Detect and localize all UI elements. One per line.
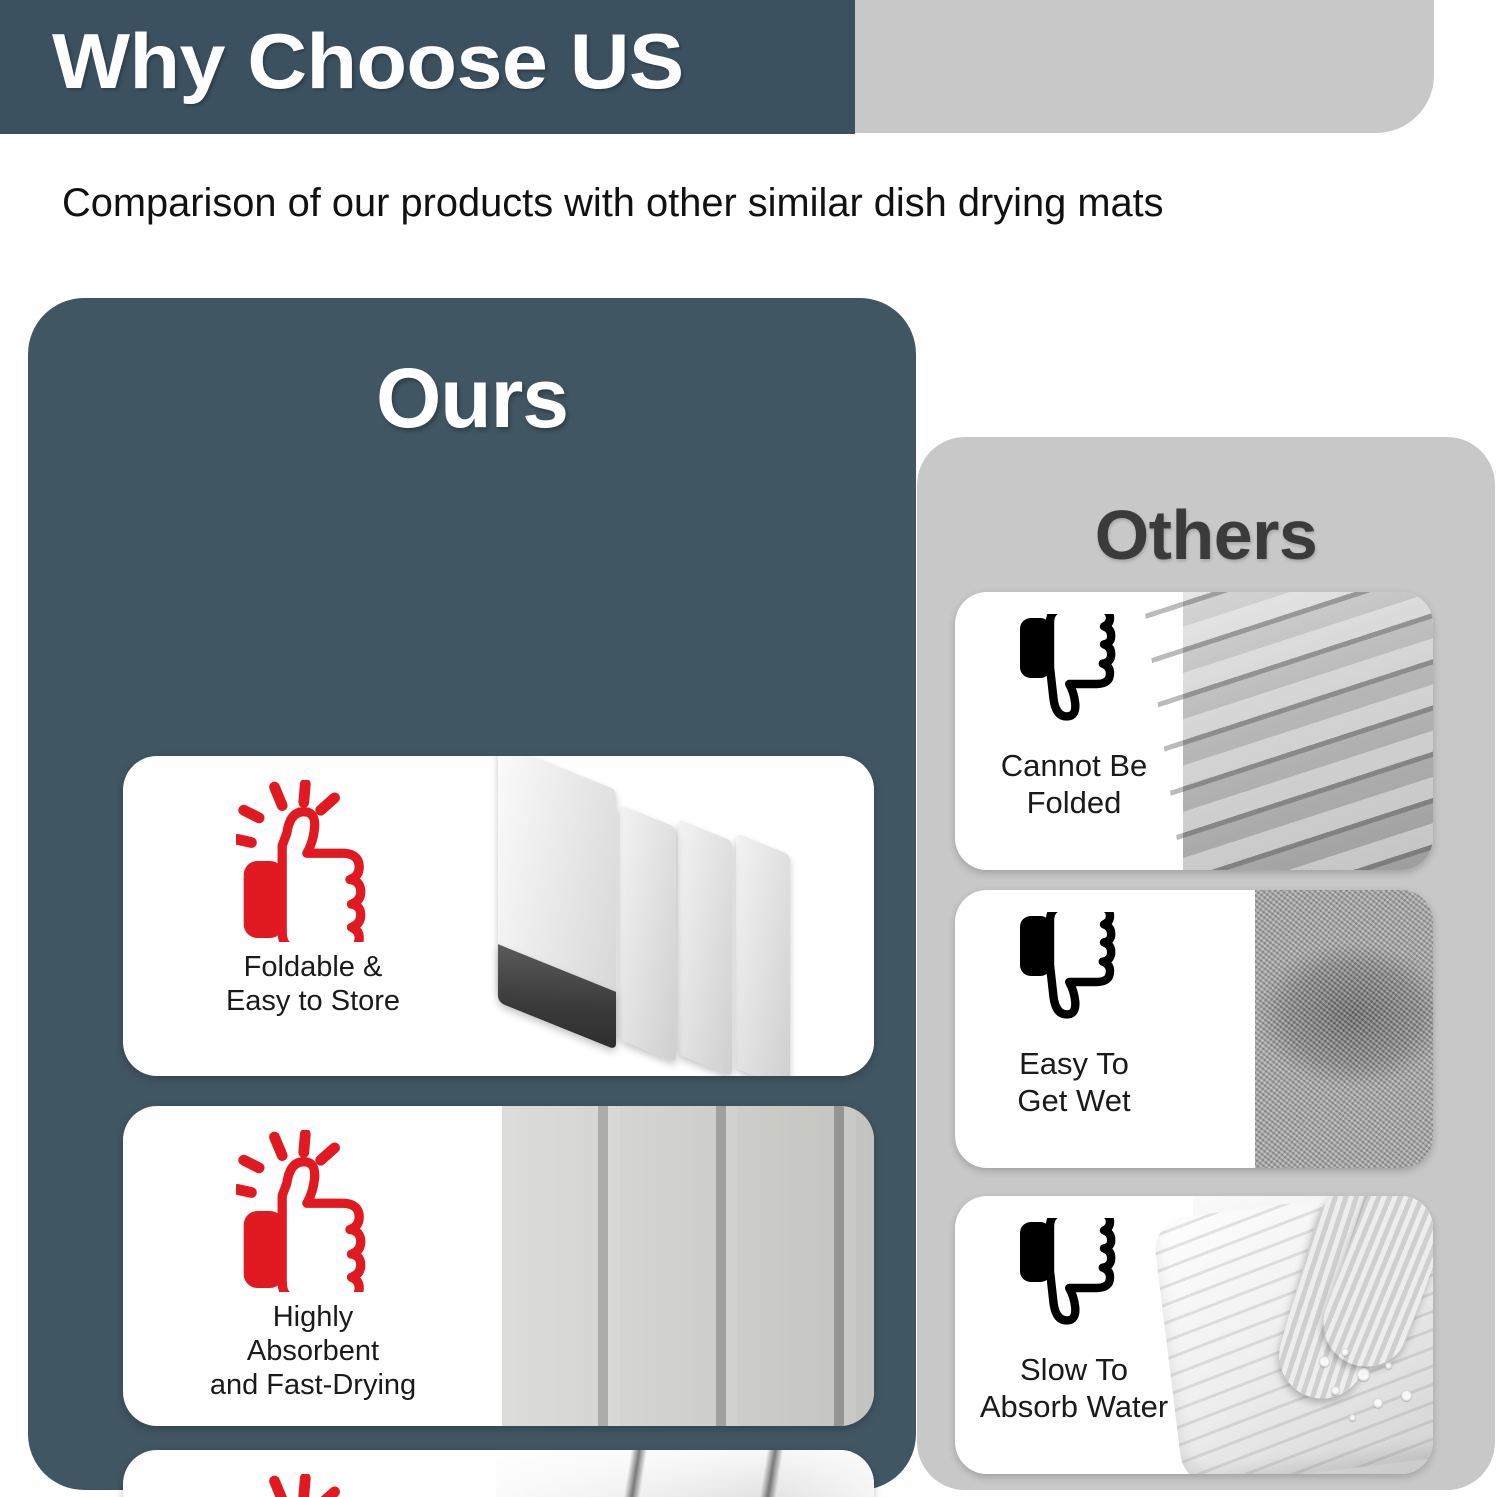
page-title: Why Choose US bbox=[52, 16, 684, 107]
wet-towel-mat-photo bbox=[1255, 890, 1433, 1168]
mat-surface-clean-photo bbox=[496, 1450, 874, 1497]
ours-card-absorbent-content: Highly Absorbent and Fast-Drying bbox=[123, 1106, 503, 1426]
thumbs-up-icon bbox=[236, 1130, 390, 1292]
others-card-slow-absorb-label: Slow To Absorb Water bbox=[980, 1352, 1168, 1425]
ours-card-foldable-label: Foldable & Easy to Store bbox=[226, 950, 400, 1018]
others-card-slow-absorb: Slow To Absorb Water bbox=[955, 1196, 1433, 1474]
others-card-easy-wet: Easy To Get Wet bbox=[955, 890, 1433, 1168]
ours-card-resistant: Resistant to Dampness and Simple to clea… bbox=[123, 1450, 874, 1497]
others-card-cannot-fold: Cannot Be Folded bbox=[955, 592, 1433, 870]
others-card-cannot-fold-label: Cannot Be Folded bbox=[1001, 748, 1148, 821]
thumbs-down-icon bbox=[1014, 614, 1134, 742]
mat-stripes-closeup-photo bbox=[502, 1106, 874, 1426]
corn-on-wet-mat-photo bbox=[1193, 1196, 1433, 1474]
others-panel-title: Others bbox=[917, 495, 1495, 575]
ours-card-absorbent-label: Highly Absorbent and Fast-Drying bbox=[210, 1300, 416, 1403]
ours-panel: Ours Fo bbox=[28, 298, 916, 1490]
rigid-ridged-mat-photo bbox=[1183, 592, 1433, 870]
ours-panel-title: Ours bbox=[28, 350, 916, 447]
others-card-easy-wet-label: Easy To Get Wet bbox=[1017, 1046, 1130, 1119]
thumbs-up-icon bbox=[236, 1474, 390, 1497]
page-subtitle: Comparison of our products with other si… bbox=[62, 181, 1164, 226]
thumbs-up-icon bbox=[236, 780, 390, 942]
ours-card-resistant-content: Resistant to Dampness and Simple to clea… bbox=[123, 1450, 503, 1497]
ours-card-foldable-content: Foldable & Easy to Store bbox=[123, 756, 503, 1076]
folded-mat-photo bbox=[450, 756, 874, 1076]
others-card-easy-wet-content: Easy To Get Wet bbox=[955, 890, 1193, 1168]
thumbs-down-icon bbox=[1014, 1218, 1134, 1346]
comparison-infographic: Why Choose US Comparison of our products… bbox=[0, 0, 1500, 1497]
thumbs-down-icon bbox=[1014, 912, 1134, 1040]
ours-card-absorbent: Highly Absorbent and Fast-Drying bbox=[123, 1106, 874, 1426]
others-card-cannot-fold-content: Cannot Be Folded bbox=[955, 592, 1193, 870]
water-droplets bbox=[1313, 1346, 1433, 1456]
header-gray-banner bbox=[836, 0, 1434, 133]
ours-card-foldable: Foldable & Easy to Store bbox=[123, 756, 874, 1076]
others-card-slow-absorb-content: Slow To Absorb Water bbox=[955, 1196, 1193, 1474]
